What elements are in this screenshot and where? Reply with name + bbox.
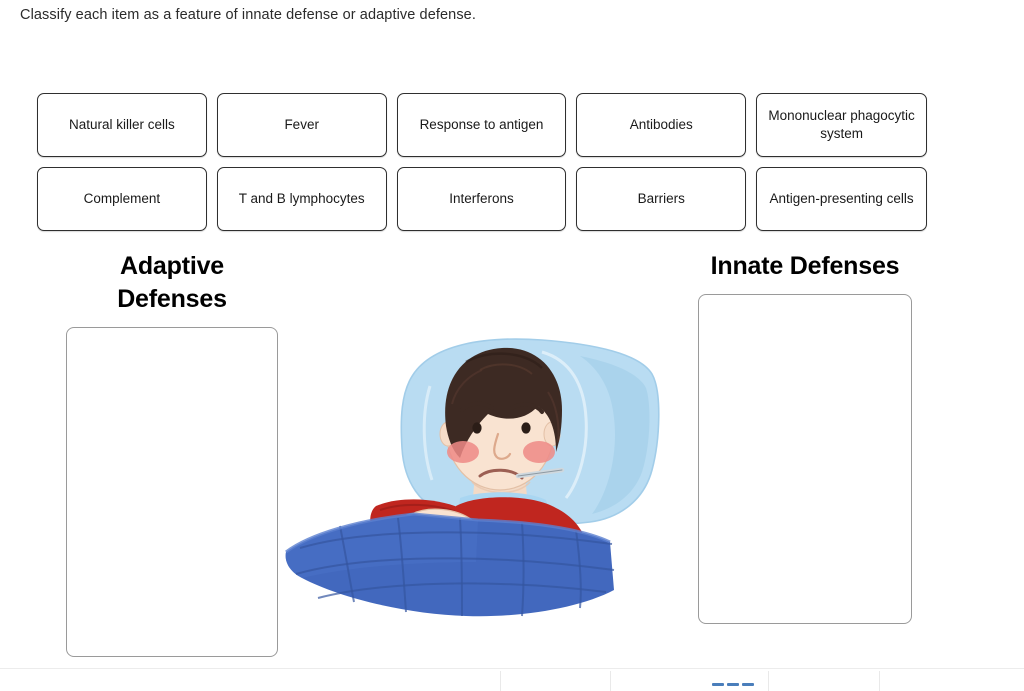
category-column-innate: Innate Defenses <box>698 250 912 624</box>
item-bank: Natural killer cells Fever Response to a… <box>37 93 927 241</box>
sick-child-in-bed-illustration <box>280 330 670 620</box>
draggable-item-antibodies[interactable]: Antibodies <box>576 93 746 157</box>
progress-segment <box>742 683 754 686</box>
category-title-innate: Innate Defenses <box>698 250 912 283</box>
toolbar-divider-2 <box>610 671 611 691</box>
draggable-item-antigen-presenting-cells[interactable]: Antigen-presenting cells <box>756 167 927 231</box>
category-title-adaptive: Adaptive Defenses <box>66 250 278 316</box>
item-bank-row-2: Complement T and B lymphocytes Interfero… <box>37 167 927 231</box>
toolbar-divider-4 <box>879 671 880 691</box>
progress-segment <box>727 683 739 686</box>
progress-segment <box>712 683 724 686</box>
draggable-item-interferons[interactable]: Interferons <box>397 167 567 231</box>
exercise-page: Classify each item as a feature of innat… <box>0 0 1024 691</box>
bottom-toolbar <box>0 668 1024 691</box>
exercise-prompt: Classify each item as a feature of innat… <box>20 7 476 23</box>
draggable-item-mononuclear-phagocytic-system[interactable]: Mononuclear phagocytic system <box>756 93 927 157</box>
toolbar-divider-1 <box>500 671 501 691</box>
draggable-item-complement[interactable]: Complement <box>37 167 207 231</box>
dropzone-adaptive-defenses[interactable] <box>66 327 278 657</box>
item-bank-row-1: Natural killer cells Fever Response to a… <box>37 93 927 157</box>
draggable-item-barriers[interactable]: Barriers <box>576 167 746 231</box>
draggable-item-t-and-b-lymphocytes[interactable]: T and B lymphocytes <box>217 167 387 231</box>
toolbar-progress-indicator[interactable] <box>712 683 754 686</box>
sick-child-illustration-graphic <box>280 330 670 620</box>
toolbar-divider-3 <box>768 671 769 691</box>
category-column-adaptive: Adaptive Defenses <box>66 250 278 657</box>
draggable-item-fever[interactable]: Fever <box>217 93 387 157</box>
draggable-item-response-to-antigen[interactable]: Response to antigen <box>397 93 567 157</box>
draggable-item-natural-killer-cells[interactable]: Natural killer cells <box>37 93 207 157</box>
dropzone-innate-defenses[interactable] <box>698 294 912 624</box>
